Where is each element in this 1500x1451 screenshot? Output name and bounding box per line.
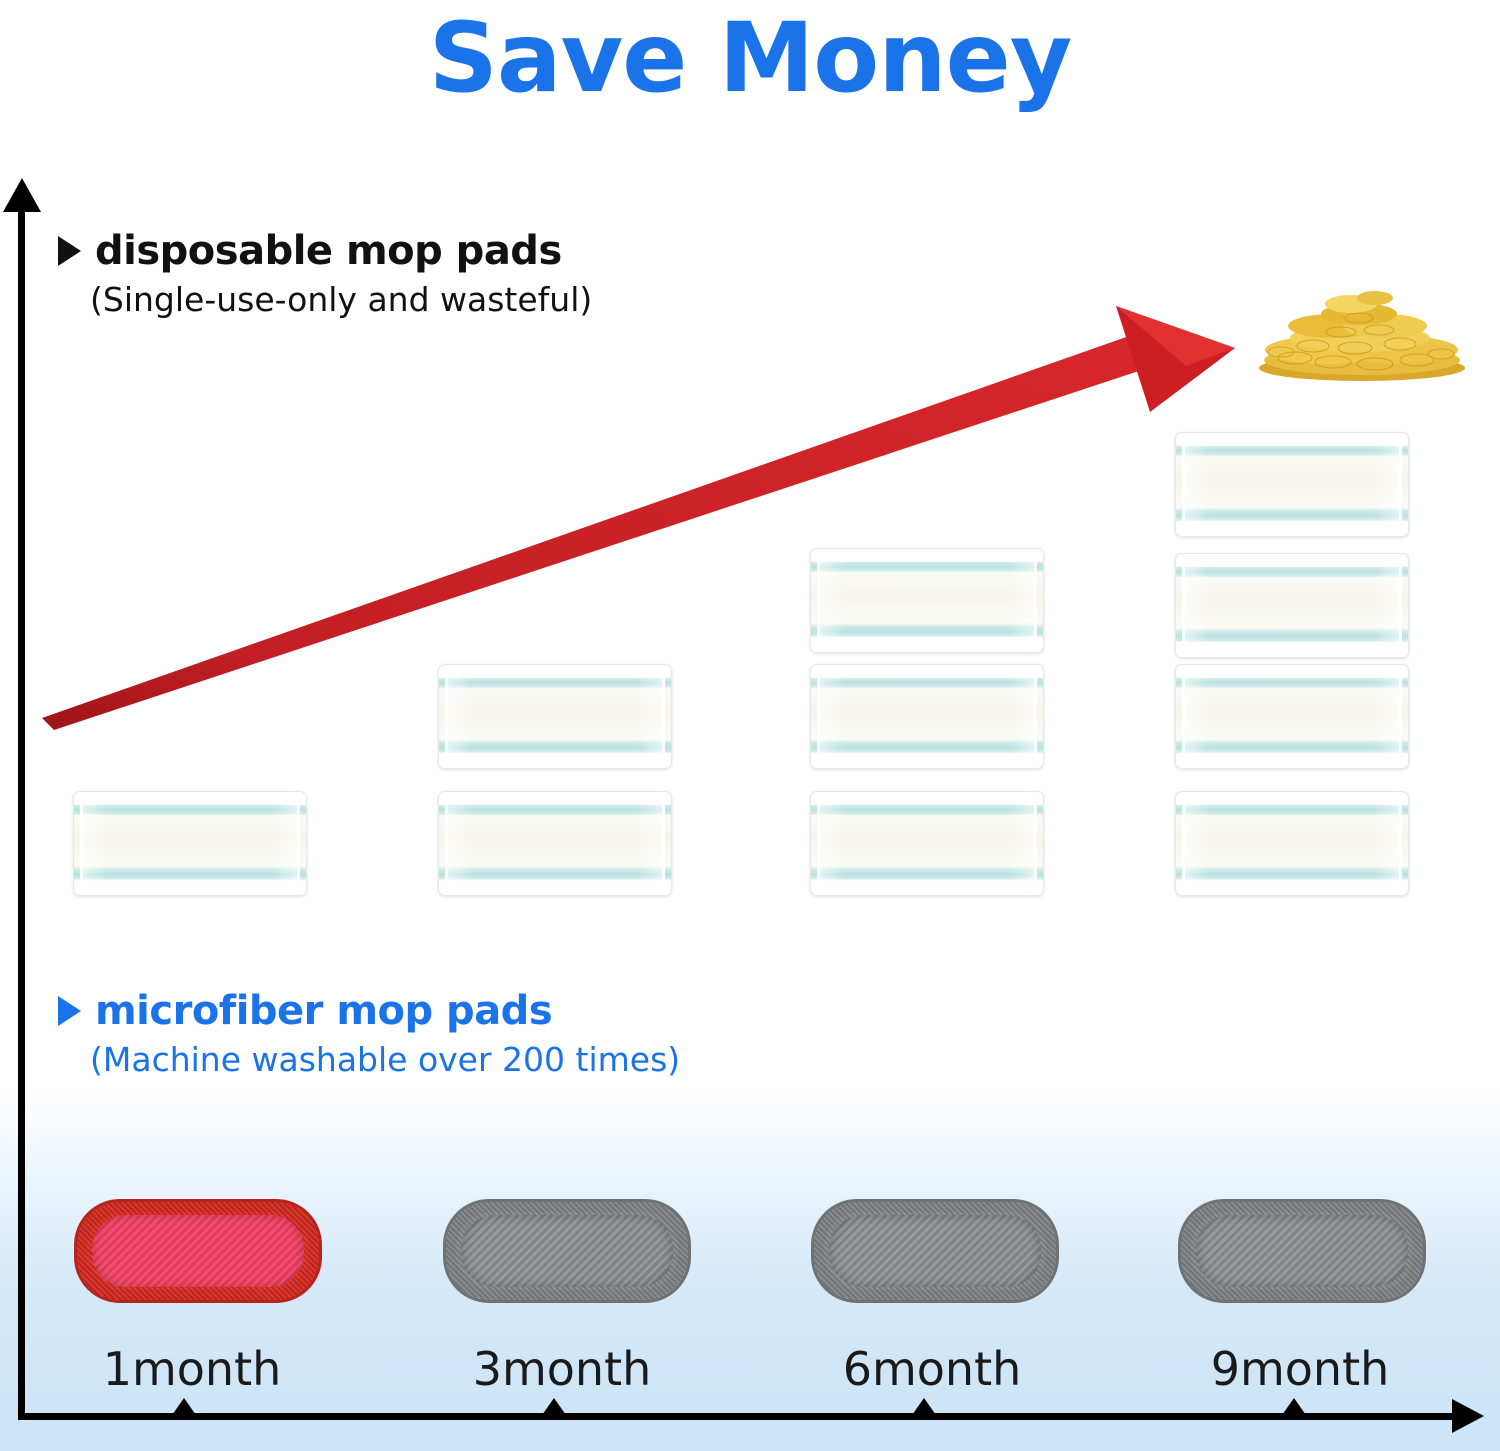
x-tick-6month [910, 1398, 938, 1418]
disposable-pad [1175, 553, 1409, 658]
legend-disposable: disposable mop pads (Single-use-only and… [58, 228, 592, 319]
disposable-pad [1175, 432, 1409, 537]
arrow-up-icon [3, 178, 41, 212]
triangle-right-icon [58, 236, 81, 266]
microfiber-pad-border [77, 1202, 319, 1300]
disposable-pad [438, 664, 672, 769]
microfiber-pad-border [1181, 1202, 1423, 1300]
microfiber-pad-gray [811, 1199, 1059, 1303]
disposable-pad [1175, 791, 1409, 896]
microfiber-pad-red [74, 1199, 322, 1303]
x-label-9month: 9month [1150, 1342, 1450, 1396]
y-axis-line [18, 205, 25, 1420]
disposable-pad [810, 791, 1044, 896]
x-tick-9month [1280, 1398, 1308, 1418]
infographic-canvas: Save Money disposable mop pads (Single-u… [0, 0, 1500, 1451]
microfiber-pad-gray [1178, 1199, 1426, 1303]
disposable-pad [73, 791, 307, 896]
legend-disposable-label: disposable mop pads [95, 228, 562, 274]
legend-microfiber: microfiber mop pads (Machine washable ov… [58, 988, 680, 1079]
x-label-6month: 6month [782, 1342, 1082, 1396]
disposable-pad [810, 664, 1044, 769]
disposable-pad [438, 791, 672, 896]
x-label-1month: 1month [42, 1342, 342, 1396]
page-title: Save Money [0, 2, 1500, 114]
legend-microfiber-label: microfiber mop pads [95, 988, 552, 1034]
microfiber-pad-gray [443, 1199, 691, 1303]
microfiber-pad-border [446, 1202, 688, 1300]
x-tick-1month [170, 1398, 198, 1418]
x-label-3month: 3month [412, 1342, 712, 1396]
legend-disposable-sublabel: (Single-use-only and wasteful) [90, 280, 592, 319]
microfiber-pad-border [814, 1202, 1056, 1300]
x-axis-line [18, 1413, 1456, 1420]
triangle-right-icon [58, 996, 81, 1026]
x-tick-3month [540, 1398, 568, 1418]
gold-coins-pile [1255, 282, 1470, 382]
disposable-pad [810, 548, 1044, 653]
legend-microfiber-sublabel: (Machine washable over 200 times) [90, 1040, 680, 1079]
disposable-pad [1175, 664, 1409, 769]
arrow-right-icon [1452, 1399, 1484, 1433]
